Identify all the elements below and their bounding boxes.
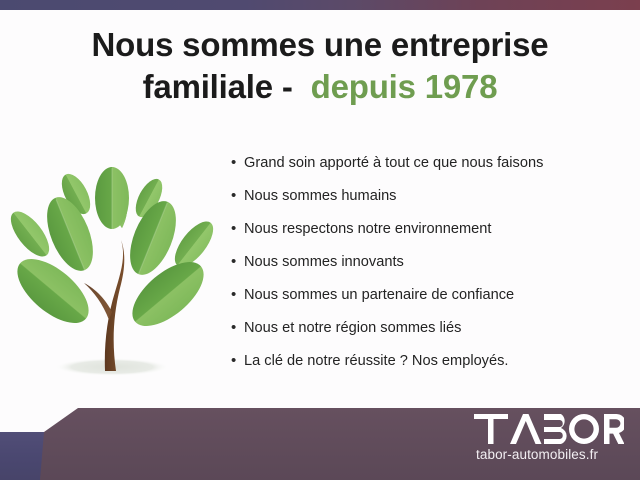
headline-line-1: Nous sommes une entreprise — [0, 26, 640, 64]
list-item: • Nous respectons notre environnement — [231, 218, 631, 251]
benefits-list: • Grand soin apporté à tout ce que nous … — [231, 152, 631, 383]
page-title: Nous sommes une entreprise familiale - d… — [0, 26, 640, 107]
bullet-marker-icon: • — [231, 185, 244, 207]
list-item-label: Nous respectons notre environnement — [244, 218, 491, 240]
list-item: • Nous et notre région sommes liés — [231, 317, 631, 350]
headline-line-2: familiale - depuis 1978 — [0, 68, 640, 106]
headline-line-2-prefix: familiale - — [143, 68, 302, 105]
list-item-label: Nous sommes un partenaire de confiance — [244, 284, 514, 306]
logo-url-label: tabor-automobiles.fr — [476, 447, 634, 462]
tree-illustration — [8, 152, 220, 387]
logo-wordmark — [474, 412, 634, 446]
brand-logo[interactable]: tabor-automobiles.fr — [474, 412, 634, 462]
list-item: • Grand soin apporté à tout ce que nous … — [231, 152, 631, 185]
bullet-marker-icon: • — [231, 152, 244, 174]
list-item: • La clé de notre réussite ? Nos employé… — [231, 350, 631, 383]
list-item: • Nous sommes humains — [231, 185, 631, 218]
list-item-label: Nous et notre région sommes liés — [244, 317, 461, 339]
list-item-label: Grand soin apporté à tout ce que nous fa… — [244, 152, 543, 174]
bullet-marker-icon: • — [231, 317, 244, 339]
list-item: • Nous sommes innovants — [231, 251, 631, 284]
list-item-label: La clé de notre réussite ? Nos employés. — [244, 350, 508, 372]
headline-accent: depuis 1978 — [311, 68, 498, 105]
bullet-marker-icon: • — [231, 284, 244, 306]
tree-branch-left — [84, 283, 112, 320]
bullet-marker-icon: • — [231, 251, 244, 273]
list-item-label: Nous sommes innovants — [244, 251, 404, 273]
top-gradient-band — [0, 0, 640, 10]
bullet-marker-icon: • — [231, 218, 244, 240]
list-item-label: Nous sommes humains — [244, 185, 396, 207]
bullet-marker-icon: • — [231, 350, 244, 372]
list-item: • Nous sommes un partenaire de confiance — [231, 284, 631, 317]
slide-canvas: Nous sommes une entreprise familiale - d… — [0, 0, 640, 480]
